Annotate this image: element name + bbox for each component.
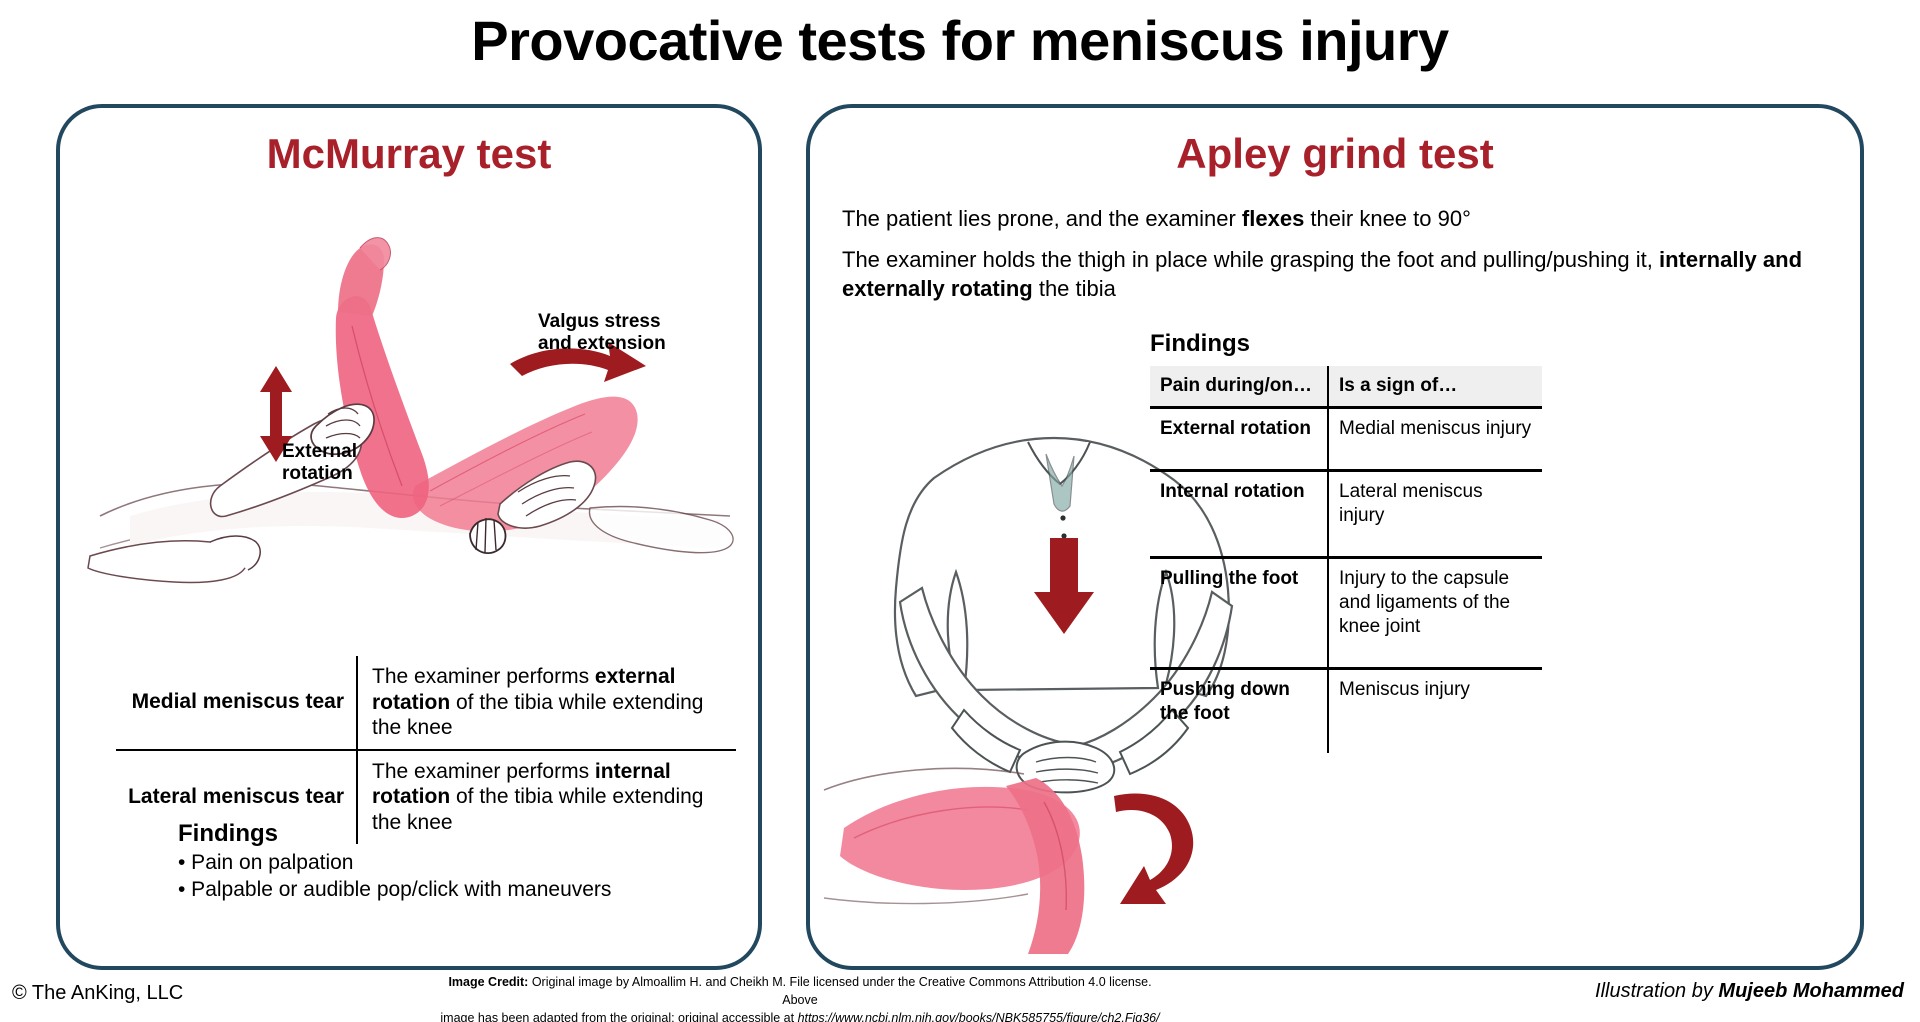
row-desc-medial: The examiner performs external rotation … [356, 656, 736, 749]
findings-heading: Findings [178, 820, 738, 848]
rotation-arrow [1114, 794, 1193, 904]
cell-sign: Meniscus injury [1328, 668, 1542, 753]
page-title: Provocative tests for meniscus injury [0, 8, 1920, 73]
apley-findings-table: Pain during/on… Is a sign of… External r… [1150, 366, 1542, 753]
cell-cause: Internal rotation [1150, 470, 1328, 557]
image-credit: Image Credit: Original image by Almoalli… [440, 974, 1160, 1022]
panel-title-mcmurray: McMurray test [60, 130, 758, 178]
mcmurray-svg [70, 186, 760, 626]
desc-pre: The examiner performs [372, 760, 595, 783]
table-row: Medial meniscus tear The examiner perfor… [116, 656, 736, 749]
cell-cause: Pulling the foot [1150, 557, 1328, 668]
table-row: Pulling the foot Injury to the capsule a… [1150, 557, 1542, 668]
mcmurray-table: Medial meniscus tear The examiner perfor… [116, 656, 736, 844]
callout-external-line1: External [282, 441, 357, 463]
table-header-row: Pain during/on… Is a sign of… [1150, 366, 1542, 407]
desc-pre: The examiner performs [372, 665, 595, 688]
panel-apley-grind-test: Apley grind test The patient lies prone,… [806, 104, 1864, 970]
cell-sign: Lateral meniscus injury [1328, 470, 1542, 557]
illustration-credit: Illustration by Mujeeb Mohammed [1595, 980, 1904, 1003]
table-body: External rotation Medial meniscus injury… [1150, 407, 1542, 753]
apley-description: The patient lies prone, and the examiner… [842, 204, 1842, 315]
para2-pre: The examiner holds the thigh in place wh… [842, 247, 1659, 272]
illustration-author: Mujeeb Mohammed [1718, 980, 1904, 1002]
para1-post: their knee to 90° [1304, 206, 1471, 231]
table-row: Pushing down the foot Meniscus injury [1150, 668, 1542, 753]
para1-pre: The patient lies prone, and the examiner [842, 206, 1242, 231]
callout-valgus-line2: and extension [538, 333, 666, 355]
cell-cause: External rotation [1150, 407, 1328, 470]
credit-url: https://www.ncbi.nlm.nih.gov/books/NBK58… [798, 1011, 1160, 1022]
cell-cause: Pushing down the foot [1150, 668, 1328, 753]
table-row: Internal rotation Lateral meniscus injur… [1150, 470, 1542, 557]
apley-paragraph-2: The examiner holds the thigh in place wh… [842, 245, 1842, 303]
panel-mcmurray-test: McMurray test [56, 104, 762, 970]
infographic-page: Provocative tests for meniscus injury Mc… [0, 0, 1920, 1022]
column-header-sign: Is a sign of… [1328, 366, 1542, 407]
credit-line2-pre: image has been adapted from the original… [440, 1011, 797, 1022]
column-header-cause: Pain during/on… [1150, 366, 1328, 407]
para1-bold: flexes [1242, 206, 1304, 231]
cell-sign: Medial meniscus injury [1328, 407, 1542, 470]
copyright-text: © The AnKing, LLC [12, 982, 183, 1005]
list-item: • Palpable or audible pop/click with man… [178, 877, 738, 904]
table-row: External rotation Medial meniscus injury [1150, 407, 1542, 470]
panel-title-apley: Apley grind test [810, 130, 1860, 178]
para2-post: the tibia [1033, 276, 1116, 301]
table-header: Pain during/on… Is a sign of… [1150, 366, 1542, 407]
cell-sign: Injury to the capsule and ligaments of t… [1328, 557, 1542, 668]
callout-valgus-line1: Valgus stress [538, 311, 666, 333]
callout-valgus-stress: Valgus stress and extension [538, 311, 666, 355]
credit-label: Image Credit: [448, 975, 528, 989]
list-item: • Pain on palpation [178, 850, 738, 877]
apley-paragraph-1: The patient lies prone, and the examiner… [842, 204, 1842, 233]
mcmurray-illustration: Valgus stress and extension External rot… [70, 186, 760, 626]
credit-line1: Original image by Almoallim H. and Cheik… [528, 975, 1151, 1007]
row-label-medial: Medial meniscus tear [116, 656, 356, 749]
findings-heading: Findings [1150, 330, 1550, 358]
mcmurray-findings: Findings • Pain on palpation • Palpable … [178, 820, 738, 904]
callout-external-line2: rotation [282, 463, 357, 485]
illustration-pre: Illustration by [1595, 980, 1718, 1002]
apley-findings: Findings Pain during/on… Is a sign of… E… [1150, 330, 1550, 753]
callout-external-rotation: External rotation [282, 441, 357, 485]
